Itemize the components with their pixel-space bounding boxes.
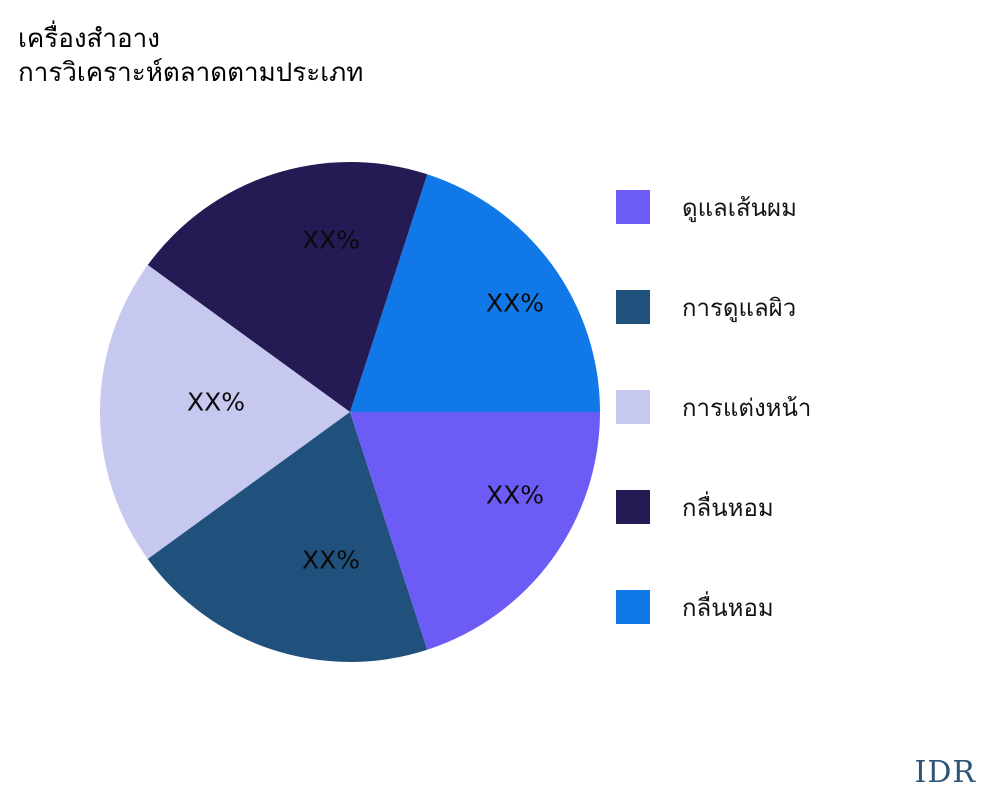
- legend: ดูแลเส้นผมการดูแลผิวการแต่งหน้ากลื่นหอมก…: [616, 157, 986, 657]
- pie-slice-label: XX%: [187, 388, 245, 417]
- pie-slice-label: XX%: [302, 226, 360, 255]
- legend-item[interactable]: กลื่นหอม: [616, 557, 986, 657]
- pie-slice-label: XX%: [486, 289, 544, 318]
- pie-slice-label: XX%: [302, 546, 360, 575]
- legend-item-label: การดูแลผิว: [682, 288, 796, 327]
- legend-item-label: กลื่นหอม: [682, 588, 774, 627]
- legend-item[interactable]: ดูแลเส้นผม: [616, 157, 986, 257]
- legend-color-swatch: [616, 290, 650, 324]
- legend-color-swatch: [616, 390, 650, 424]
- legend-item-label: กลื่นหอม: [682, 488, 774, 527]
- legend-item[interactable]: การแต่งหน้า: [616, 357, 986, 457]
- legend-color-swatch: [616, 490, 650, 524]
- legend-item-label: การแต่งหน้า: [682, 388, 811, 427]
- legend-item[interactable]: กลื่นหอม: [616, 457, 986, 557]
- pie-slice-label: XX%: [486, 481, 544, 510]
- chart-canvas: เครื่องสำอาง การวิเคราะห์ตลาดตามประเภท X…: [0, 0, 1000, 800]
- legend-color-swatch: [616, 590, 650, 624]
- legend-color-swatch: [616, 190, 650, 224]
- legend-item-label: ดูแลเส้นผม: [682, 188, 797, 227]
- legend-item[interactable]: การดูแลผิว: [616, 257, 986, 357]
- watermark-idr: IDR: [915, 755, 977, 790]
